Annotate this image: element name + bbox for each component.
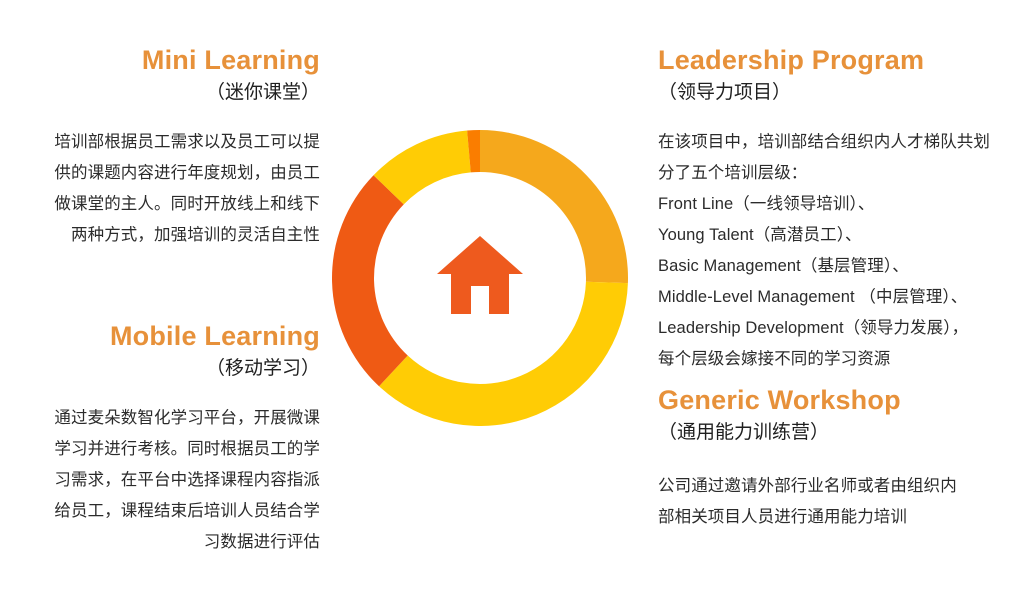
body-line: 学习并进行考核。同时根据员工的学 — [8, 434, 320, 465]
body-line: 在该项目中，培训部结合组织内人才梯队共划 — [658, 127, 1028, 158]
body-line: 分了五个培训层级： — [658, 158, 1028, 189]
generic-workshop-subheading: （通用能力训练营） — [658, 420, 1028, 446]
section-leadership-program: Leadership Program （领导力项目） 在该项目中，培训部结合组织… — [658, 46, 1028, 375]
body-line: 供的课题内容进行年度规划，由员工 — [8, 158, 320, 189]
leadership-program-subheading: （领导力项目） — [658, 80, 1028, 106]
body-line: 培训部根据员工需求以及员工可以提 — [8, 127, 320, 158]
mini-learning-heading: Mini Learning — [8, 46, 320, 76]
generic-workshop-heading: Generic Workshop — [658, 386, 1028, 416]
body-line: 给员工，课程结束后培训人员结合学 — [8, 496, 320, 527]
body-line: Young Talent（高潜员工）、 — [658, 220, 1028, 251]
section-generic-workshop: Generic Workshop （通用能力训练营） 公司通过邀请外部行业名师或… — [658, 386, 1028, 533]
body-line: 公司通过邀请外部行业名师或者由组织内 — [658, 471, 1028, 502]
body-line: 通过麦朵数智化学习平台，开展微课 — [8, 403, 320, 434]
generic-workshop-body: 公司通过邀请外部行业名师或者由组织内 部相关项目人员进行通用能力培训 — [658, 471, 1028, 533]
donut-segment-3 — [332, 175, 408, 386]
mobile-learning-subheading: （移动学习） — [8, 356, 320, 382]
donut-chart — [332, 130, 628, 426]
body-line: 做课堂的主人。同时开放线上和线下 — [8, 189, 320, 220]
leadership-program-heading: Leadership Program — [658, 46, 1028, 76]
body-line: 两种方式，加强培训的灵活自主性 — [8, 220, 320, 251]
mobile-learning-heading: Mobile Learning — [8, 322, 320, 352]
mobile-learning-body: 通过麦朵数智化学习平台，开展微课 学习并进行考核。同时根据员工的学 习需求，在平… — [8, 403, 320, 558]
mini-learning-subheading: （迷你课堂） — [8, 80, 320, 106]
body-line: 每个层级会嫁接不同的学习资源 — [658, 344, 1028, 375]
body-line: Front Line（一线领导培训）、 — [658, 189, 1028, 220]
body-line: Basic Management（基层管理）、 — [658, 251, 1028, 282]
leadership-program-body: 在该项目中，培训部结合组织内人才梯队共划 分了五个培训层级： Front Lin… — [658, 127, 1028, 375]
infographic-canvas: Mini Learning （迷你课堂） 培训部根据员工需求以及员工可以提 供的… — [0, 0, 1030, 596]
body-line: 部相关项目人员进行通用能力培训 — [658, 502, 1028, 533]
section-mobile-learning: Mobile Learning （移动学习） 通过麦朵数智化学习平台，开展微课 … — [8, 322, 320, 558]
body-line: 习数据进行评估 — [8, 527, 320, 558]
body-line: Middle-Level Management （中层管理）、 — [658, 282, 1028, 313]
section-mini-learning: Mini Learning （迷你课堂） 培训部根据员工需求以及员工可以提 供的… — [8, 46, 320, 251]
body-line: Leadership Development（领导力发展）， — [658, 313, 1028, 344]
body-line: 习需求，在平台中选择课程内容指派 — [8, 465, 320, 496]
mini-learning-body: 培训部根据员工需求以及员工可以提 供的课题内容进行年度规划，由员工 做课堂的主人… — [8, 127, 320, 251]
home-icon — [430, 225, 530, 325]
home-icon-shape — [437, 236, 523, 314]
